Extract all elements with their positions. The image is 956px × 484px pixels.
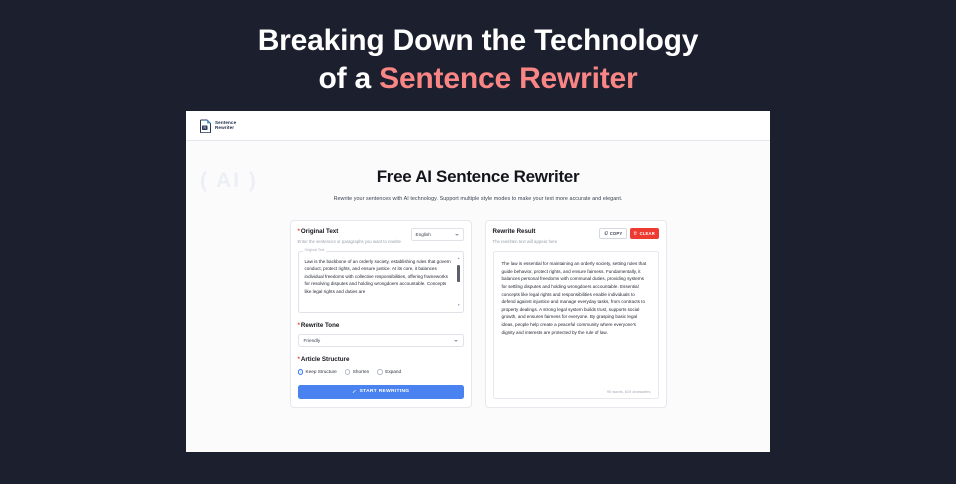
site-body: ( AI ) Free AI Sentence Rewriter Rewrite… — [186, 141, 770, 452]
page-subtitle: Rewrite your sentences with AI technolog… — [186, 196, 770, 202]
original-text-header-left: Original Text Enter the sentences or par… — [298, 228, 401, 244]
radio-expand[interactable]: Expand — [377, 369, 401, 375]
original-text-input[interactable]: Law is the backbone of an orderly societ… — [298, 251, 464, 313]
site-logo[interactable]: R Sentence Rewriter — [199, 119, 236, 133]
rewrite-tone-group: Rewrite Tone Friendly — [298, 322, 464, 347]
banner-headline: Breaking Down the Technology of a Senten… — [0, 22, 956, 99]
radio-shorten[interactable]: Shorten — [345, 369, 369, 375]
start-rewriting-button[interactable]: START REWRITING — [298, 385, 464, 399]
original-text-value: Law is the backbone of an orderly societ… — [305, 259, 451, 294]
page-title: Free AI Sentence Rewriter — [186, 167, 770, 187]
scrollbar-track[interactable] — [457, 261, 460, 303]
site-topbar: R Sentence Rewriter — [186, 111, 770, 141]
rewrite-result-title: Rewrite Result — [493, 228, 558, 235]
banner: Breaking Down the Technology of a Senten… — [0, 0, 956, 99]
article-structure-radios: Keep Structure Shorten Expand — [298, 369, 464, 375]
radio-shorten-label: Shorten — [353, 369, 369, 374]
rewrite-result-hint: The rewritten text will appear here — [493, 239, 558, 244]
headline-prefix: of a — [318, 62, 379, 95]
browser-window: R Sentence Rewriter ( AI ) Free AI Sente… — [186, 111, 770, 452]
radio-dot — [345, 369, 351, 375]
original-text-panel: Original Text Enter the sentences or par… — [290, 220, 472, 408]
headline-line-1: Breaking Down the Technology — [258, 24, 699, 57]
original-text-field-wrap: Original Text Law is the backbone of an … — [298, 251, 464, 313]
original-text-title: Original Text — [298, 228, 401, 235]
rewrite-result-panel: Rewrite Result The rewritten text will a… — [485, 220, 667, 408]
radio-dot-selected — [298, 369, 304, 375]
rewrite-tone-label: Rewrite Tone — [298, 322, 464, 329]
clear-button[interactable]: CLEAR — [630, 228, 659, 239]
site-logo-text: Sentence Rewriter — [215, 121, 236, 131]
copy-icon — [604, 231, 608, 235]
clear-label: CLEAR — [640, 231, 655, 236]
result-actions: COPY CLEAR — [599, 228, 658, 239]
scroll-down-icon[interactable]: ▼ — [457, 304, 460, 307]
language-select-value: English — [416, 232, 431, 237]
rewrite-result-header: Rewrite Result The rewritten text will a… — [493, 228, 659, 244]
word-count: 90 words, 619 characters — [607, 389, 651, 394]
radio-expand-label: Expand — [385, 369, 401, 374]
chevron-down-icon — [454, 340, 458, 342]
original-text-hint: Enter the sentences or paragraphs you wa… — [298, 239, 401, 244]
original-text-scrollbar[interactable]: ▲ ▼ — [457, 257, 460, 307]
original-text-field-legend: Original Text — [303, 248, 327, 252]
headline-accent: Sentence Rewriter — [379, 62, 637, 95]
headline-line-2: of a Sentence Rewriter — [0, 60, 956, 98]
rewrite-result-box: The law is essential for maintaining an … — [493, 251, 659, 399]
copy-label: COPY — [610, 231, 623, 236]
start-rewriting-label: START REWRITING — [360, 389, 410, 394]
scroll-up-icon[interactable]: ▲ — [457, 257, 460, 260]
chevron-down-icon — [455, 234, 459, 236]
copy-button[interactable]: COPY — [599, 228, 627, 239]
ai-watermark: ( AI ) — [200, 169, 258, 193]
scrollbar-thumb[interactable] — [457, 265, 460, 282]
panels-row: Original Text Enter the sentences or par… — [186, 220, 770, 408]
rewrite-result-text: The law is essential for maintaining an … — [502, 260, 650, 336]
radio-dot — [377, 369, 383, 375]
document-logo-icon: R — [199, 119, 212, 133]
magic-wand-icon — [352, 389, 357, 394]
rewrite-result-header-left: Rewrite Result The rewritten text will a… — [493, 228, 558, 244]
rewrite-tone-select[interactable]: Friendly — [298, 334, 464, 347]
rewrite-tone-value: Friendly — [304, 338, 321, 343]
original-text-header: Original Text Enter the sentences or par… — [298, 228, 464, 244]
language-select[interactable]: English — [411, 228, 464, 241]
radio-keep-structure-label: Keep Structure — [306, 369, 337, 374]
trash-icon — [633, 231, 637, 235]
logo-line-2: Rewriter — [215, 126, 236, 131]
radio-keep-structure[interactable]: Keep Structure — [298, 369, 337, 375]
article-structure-label: Article Structure — [298, 356, 464, 363]
article-structure-group: Article Structure Keep Structure Shorten — [298, 356, 464, 375]
